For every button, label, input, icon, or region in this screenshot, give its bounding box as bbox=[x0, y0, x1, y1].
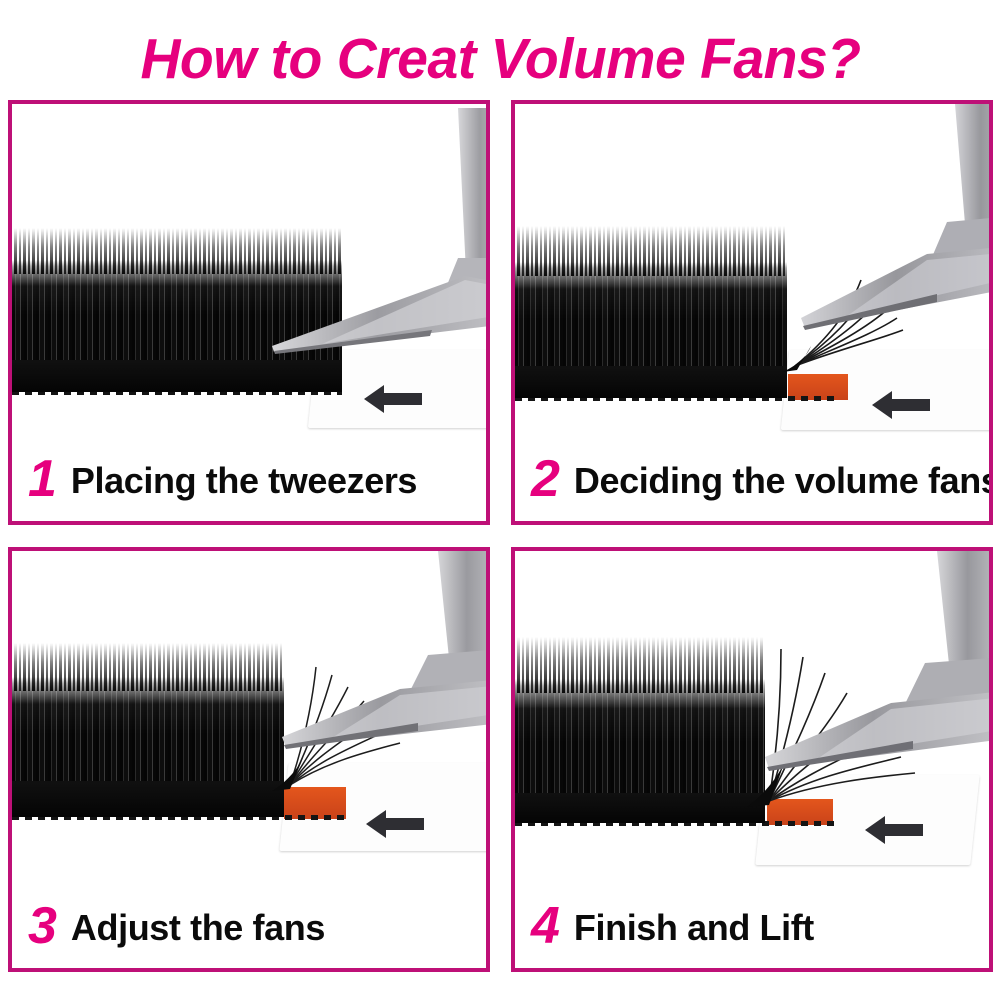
arrow-left-icon bbox=[364, 807, 426, 841]
step-3-photo bbox=[12, 551, 486, 889]
step-2-number: 2 bbox=[531, 453, 560, 505]
arrow-left-icon bbox=[362, 382, 424, 416]
step-1-number: 1 bbox=[28, 453, 57, 505]
step-panel-1[interactable]: 1 Placing the tweezers bbox=[8, 100, 490, 525]
step-3-caption: 3 Adjust the fans bbox=[12, 888, 486, 968]
step-1-label: Placing the tweezers bbox=[71, 463, 417, 499]
step-panel-3[interactable]: 3 Adjust the fans bbox=[8, 547, 490, 972]
lash-tips bbox=[12, 643, 284, 691]
tweezers bbox=[777, 104, 989, 366]
tweezers bbox=[725, 551, 989, 803]
lash-tips bbox=[515, 226, 787, 276]
steps-grid: 1 Placing the tweezers bbox=[8, 100, 993, 972]
lash-bristles bbox=[12, 677, 284, 781]
lash-strip-base bbox=[12, 777, 284, 817]
page-title: How to Creat Volume Fans? bbox=[15, 26, 986, 92]
step-panel-2[interactable]: 2 Deciding the volume fans bbox=[511, 100, 993, 525]
step-4-photo bbox=[515, 551, 989, 889]
step-4-number: 4 bbox=[531, 900, 560, 952]
arrow-left-icon bbox=[863, 813, 925, 847]
step-1-photo bbox=[12, 104, 486, 442]
lash-bristles bbox=[515, 262, 787, 366]
step-4-label: Finish and Lift bbox=[574, 910, 814, 946]
step-1-caption: 1 Placing the tweezers bbox=[12, 441, 486, 521]
step-2-photo bbox=[515, 104, 989, 442]
tweezers bbox=[262, 108, 486, 388]
lash-strip-base bbox=[515, 362, 787, 398]
step-4-caption: 4 Finish and Lift bbox=[515, 888, 989, 968]
tweezers bbox=[252, 551, 486, 789]
step-3-number: 3 bbox=[28, 900, 57, 952]
arrow-left-icon bbox=[870, 388, 932, 422]
step-3-label: Adjust the fans bbox=[71, 910, 325, 946]
step-2-caption: 2 Deciding the volume fans bbox=[515, 441, 989, 521]
step-panel-4[interactable]: 4 Finish and Lift bbox=[511, 547, 993, 972]
step-2-label: Deciding the volume fans bbox=[574, 463, 993, 499]
